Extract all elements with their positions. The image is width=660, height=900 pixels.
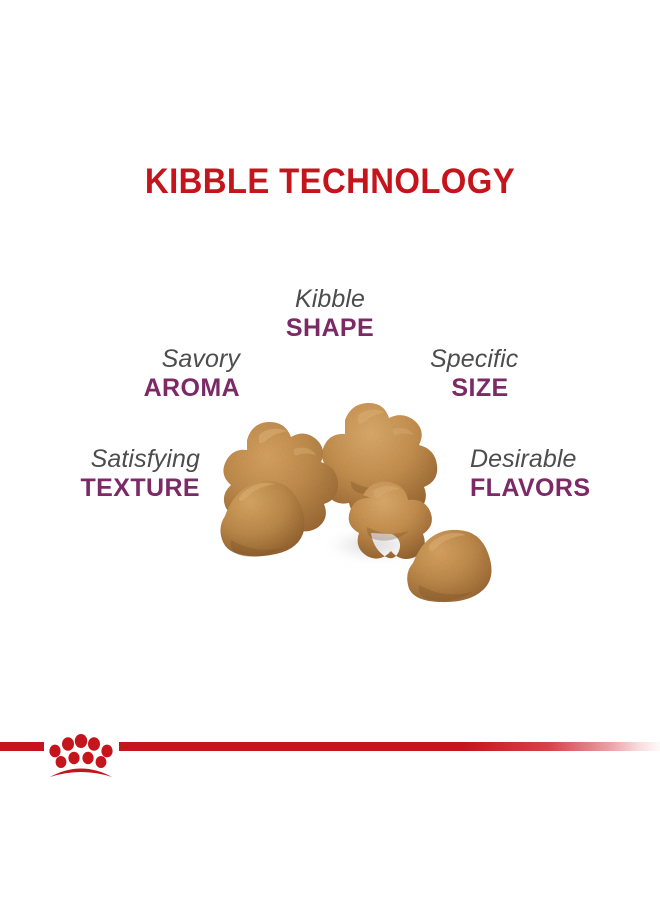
- royal-canin-crown-icon: [45, 724, 117, 780]
- kibble-photo: [195, 385, 535, 615]
- callout-shape-key: SHAPE: [0, 315, 660, 342]
- footer-brand-bar: [0, 736, 660, 776]
- callout-texture-key: TEXTURE: [0, 475, 200, 502]
- callout-shape-lead: Kibble: [0, 286, 660, 313]
- callout-aroma-lead: Savory: [0, 346, 240, 373]
- brand-bar-left-segment: [0, 742, 44, 751]
- brand-bar-right-segment: [119, 742, 660, 751]
- page-title: KIBBLE TECHNOLOGY: [20, 162, 640, 202]
- callout-texture: Satisfying TEXTURE: [0, 446, 200, 501]
- callout-size-lead: Specific: [430, 346, 630, 373]
- callout-texture-lead: Satisfying: [0, 446, 200, 473]
- callout-shape: Kibble SHAPE: [0, 286, 660, 341]
- poster-canvas: KIBBLE TECHNOLOGY Kibble SHAPE Savory AR…: [0, 0, 660, 900]
